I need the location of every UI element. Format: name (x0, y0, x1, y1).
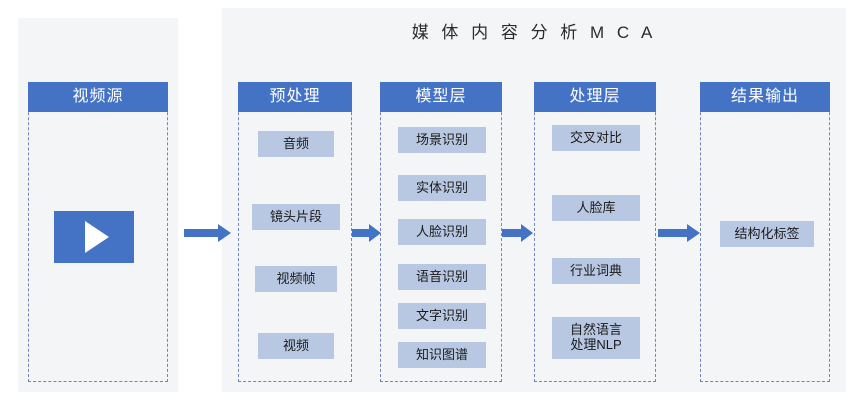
chip-model-speech[interactable]: 语音识别 (398, 264, 486, 290)
chip-model-text[interactable]: 文字识别 (398, 303, 486, 329)
column-header-process-layer: 处理层 (534, 82, 656, 112)
column-result-output: 结果输出 结构化标签 (700, 82, 830, 382)
arrow-preprocess-to-model-layer (352, 223, 382, 243)
column-process-layer: 处理层 交叉对比 人脸库 行业词典 自然语言 处理NLP (534, 82, 656, 382)
chip-process-industry-dict[interactable]: 行业词典 (552, 258, 640, 284)
chip-model-kg[interactable]: 知识图谱 (398, 342, 486, 368)
chip-process-face-db[interactable]: 人脸库 (552, 195, 640, 221)
chip-process-cross-compare[interactable]: 交叉对比 (552, 125, 640, 151)
play-triangle-icon (85, 221, 109, 253)
column-header-preprocess: 预处理 (238, 82, 352, 112)
arrow-video-source-to-preprocess (184, 223, 232, 243)
chip-result-structured-tag[interactable]: 结构化标签 (720, 221, 814, 247)
chip-preprocess-shot[interactable]: 镜头片段 (252, 204, 340, 230)
chip-model-scene[interactable]: 场景识别 (398, 127, 486, 153)
column-header-result-output: 结果输出 (700, 82, 830, 112)
chip-model-entity[interactable]: 实体识别 (398, 175, 486, 201)
play-icon (54, 211, 134, 263)
chip-preprocess-frame[interactable]: 视频帧 (255, 266, 337, 292)
chip-preprocess-audio[interactable]: 音频 (258, 131, 334, 157)
column-video-source: 视频源 (28, 82, 168, 382)
chip-model-face[interactable]: 人脸识别 (398, 219, 486, 245)
chip-process-nlp[interactable]: 自然语言 处理NLP (552, 317, 640, 359)
diagram-title: 媒 体 内 容 分 析 M C A (222, 18, 846, 43)
column-header-video-source: 视频源 (28, 82, 168, 112)
column-header-model-layer: 模型层 (380, 82, 502, 112)
arrow-process-layer-to-result-output (658, 223, 701, 243)
column-preprocess: 预处理 音频 镜头片段 视频帧 视频 (238, 82, 352, 382)
chip-preprocess-video[interactable]: 视频 (258, 333, 334, 359)
arrow-model-layer-to-process-layer (502, 223, 534, 243)
column-model-layer: 模型层 场景识别 实体识别 人脸识别 语音识别 文字识别 知识图谱 (380, 82, 502, 382)
